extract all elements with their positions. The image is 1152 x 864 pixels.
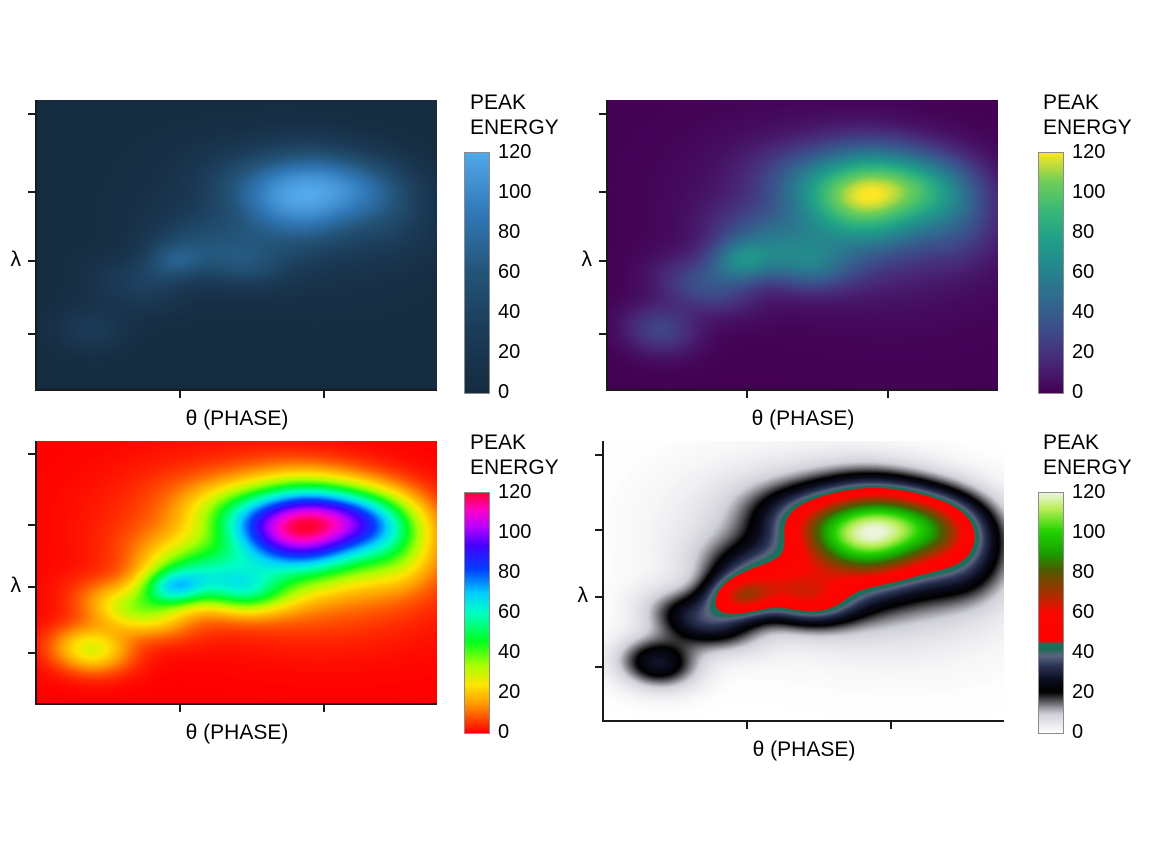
- panel-gist-stern-x-tick-0: [746, 722, 748, 729]
- panel-bottom-right: λθ (PHASE)PEAKENERGY120100806040200: [0, 0, 1152, 864]
- panel-gist-stern-plot-area[interactable]: [604, 441, 1004, 720]
- panel-gist-stern-y-tick-3: [595, 666, 602, 668]
- panel-gist-stern-colorbar-title-line2: ENERGY: [1043, 455, 1132, 480]
- figure-canvas: λθ (PHASE)PEAKENERGY120100806040200λθ (P…: [0, 0, 1152, 864]
- panel-gist-stern-colorbar-title: PEAKENERGY: [1043, 430, 1132, 480]
- panel-gist-stern-heatmap-canvas: [604, 441, 1004, 720]
- panel-gist-stern-y-tick-1: [595, 529, 602, 531]
- panel-gist-stern-colorbar-tick-100: 100: [1072, 522, 1105, 542]
- panel-gist-stern-colorbar-title-line1: PEAK: [1043, 430, 1132, 455]
- panel-gist-stern-colorbar-tick-0: 0: [1072, 722, 1083, 742]
- panel-gist-stern-colorbar-tick-40: 40: [1072, 642, 1094, 662]
- panel-gist-stern-colorbar-gradient: [1039, 493, 1063, 733]
- panel-gist-stern-x-axis-line: [602, 720, 1004, 722]
- panel-gist-stern-y-tick-2: [595, 596, 602, 598]
- panel-gist-stern-y-axis-label: λ: [556, 585, 588, 606]
- panel-gist-stern-colorbar-tick-80: 80: [1072, 562, 1094, 582]
- panel-gist-stern-colorbar[interactable]: [1038, 492, 1064, 734]
- panel-gist-stern-colorbar-tick-120: 120: [1072, 482, 1105, 502]
- panel-gist-stern-x-tick-1: [890, 722, 892, 729]
- panel-gist-stern-y-tick-0: [595, 454, 602, 456]
- panel-gist-stern-x-axis-label: θ (PHASE): [604, 739, 1004, 760]
- panel-gist-stern-colorbar-tick-60: 60: [1072, 602, 1094, 622]
- panel-gist-stern-colorbar-tick-20: 20: [1072, 682, 1094, 702]
- panel-gist-stern-y-axis-line: [602, 441, 604, 720]
